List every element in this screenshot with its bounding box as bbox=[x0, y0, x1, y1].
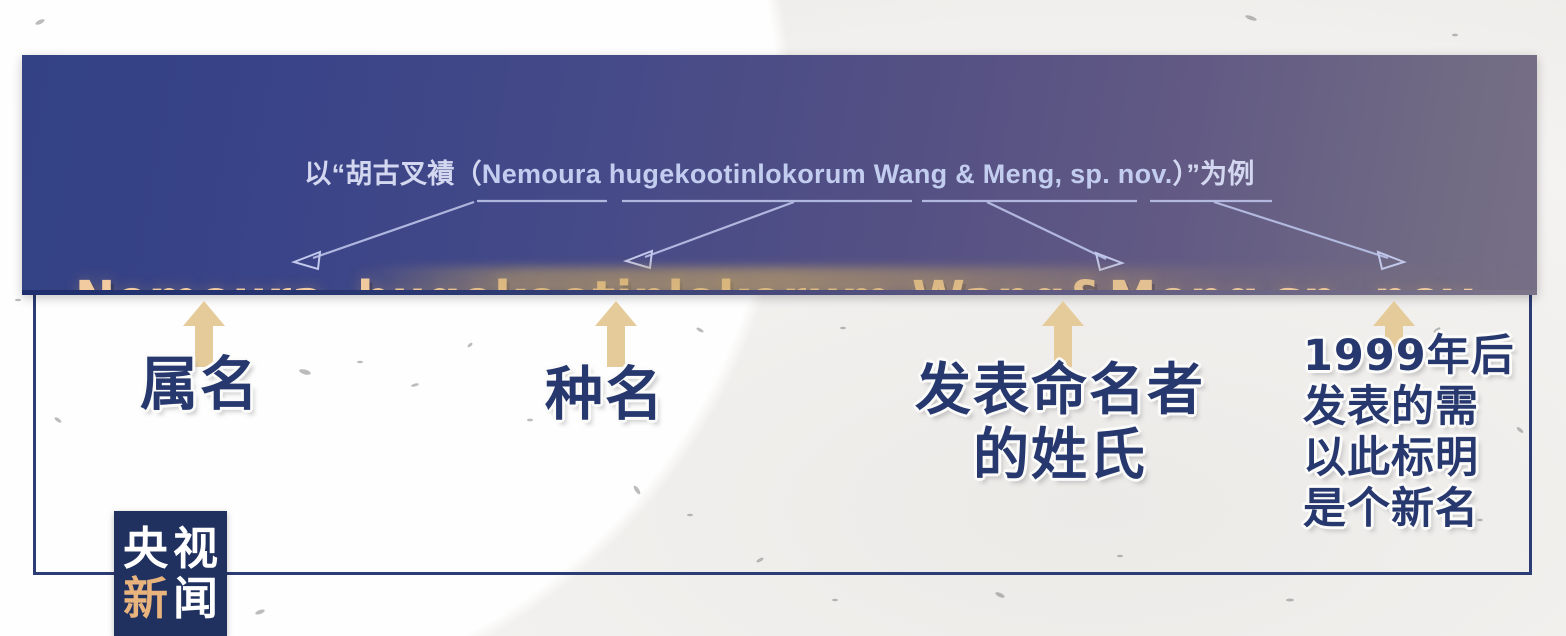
leader-species bbox=[645, 202, 794, 257]
title-banner: 以“胡古叉襀（Nemoura hugekootinlokorum Wang & … bbox=[22, 55, 1537, 295]
banner-bottom-rule bbox=[22, 290, 1537, 295]
cctv-news-logo: 央 视 新 闻 bbox=[114, 511, 227, 636]
leader-genus bbox=[313, 202, 474, 258]
arrowhead-species bbox=[626, 251, 652, 268]
callout-author-line-1: 发表命名者 bbox=[915, 362, 1205, 419]
logo-char-yang: 央 bbox=[123, 526, 168, 571]
arrowhead-author bbox=[1096, 253, 1122, 270]
callout-species: 种名 bbox=[545, 365, 665, 424]
logo-line-2: 新 闻 bbox=[123, 576, 218, 621]
logo-char-shi: 视 bbox=[173, 526, 218, 571]
logo-char-xin: 新 bbox=[123, 576, 168, 621]
callout-genus: 属名 bbox=[140, 355, 260, 414]
up-arrow-species bbox=[592, 299, 640, 367]
leader-author bbox=[987, 202, 1106, 259]
callout-novelty: 1999年后 发表的需 以此标明 是个新名 bbox=[1303, 335, 1515, 538]
callout-novelty-line-1: 1999年后 bbox=[1303, 335, 1515, 379]
callout-author: 发表命名者 的姓氏 bbox=[915, 362, 1205, 484]
callout-novelty-line-2: 发表的需 bbox=[1303, 386, 1515, 430]
logo-char-wen: 闻 bbox=[173, 576, 218, 621]
arrowhead-novelty bbox=[1378, 252, 1404, 269]
callout-species-line-1: 种名 bbox=[545, 365, 665, 424]
connector-lines bbox=[22, 55, 1537, 295]
callout-genus-line-1: 属名 bbox=[140, 355, 260, 414]
logo-line-1: 央 视 bbox=[123, 526, 218, 571]
leader-novelty bbox=[1214, 202, 1388, 258]
callout-novelty-line-3: 以此标明 bbox=[1303, 437, 1515, 481]
up-arrow-author bbox=[1039, 299, 1087, 367]
callout-novelty-line-4: 是个新名 bbox=[1303, 488, 1515, 532]
callout-author-line-2: 的姓氏 bbox=[915, 427, 1205, 484]
arrowhead-genus bbox=[294, 252, 320, 269]
